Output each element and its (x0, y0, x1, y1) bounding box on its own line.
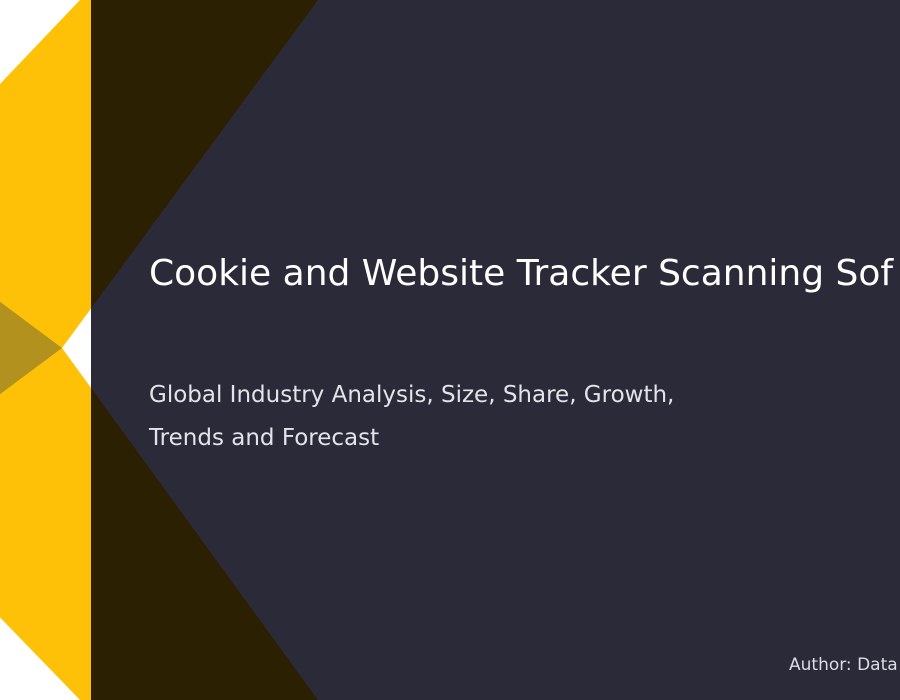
slide-content: Cookie and Website Tracker Scanning Sof … (0, 0, 900, 700)
subtitle-line-1: Global Industry Analysis, Size, Share, G… (149, 374, 849, 417)
title-block: Cookie and Website Tracker Scanning Sof (149, 252, 900, 296)
author-label: Author: Data (789, 653, 900, 677)
page-title: Cookie and Website Tracker Scanning Sof (149, 252, 900, 296)
slide-subtitle: Global Industry Analysis, Size, Share, G… (149, 374, 849, 460)
author-block: Author: Data (789, 653, 900, 677)
subtitle-line-2: Trends and Forecast (149, 417, 849, 460)
title-slide: Cookie and Website Tracker Scanning Sof … (0, 0, 900, 700)
subtitle-block: Global Industry Analysis, Size, Share, G… (149, 374, 849, 460)
